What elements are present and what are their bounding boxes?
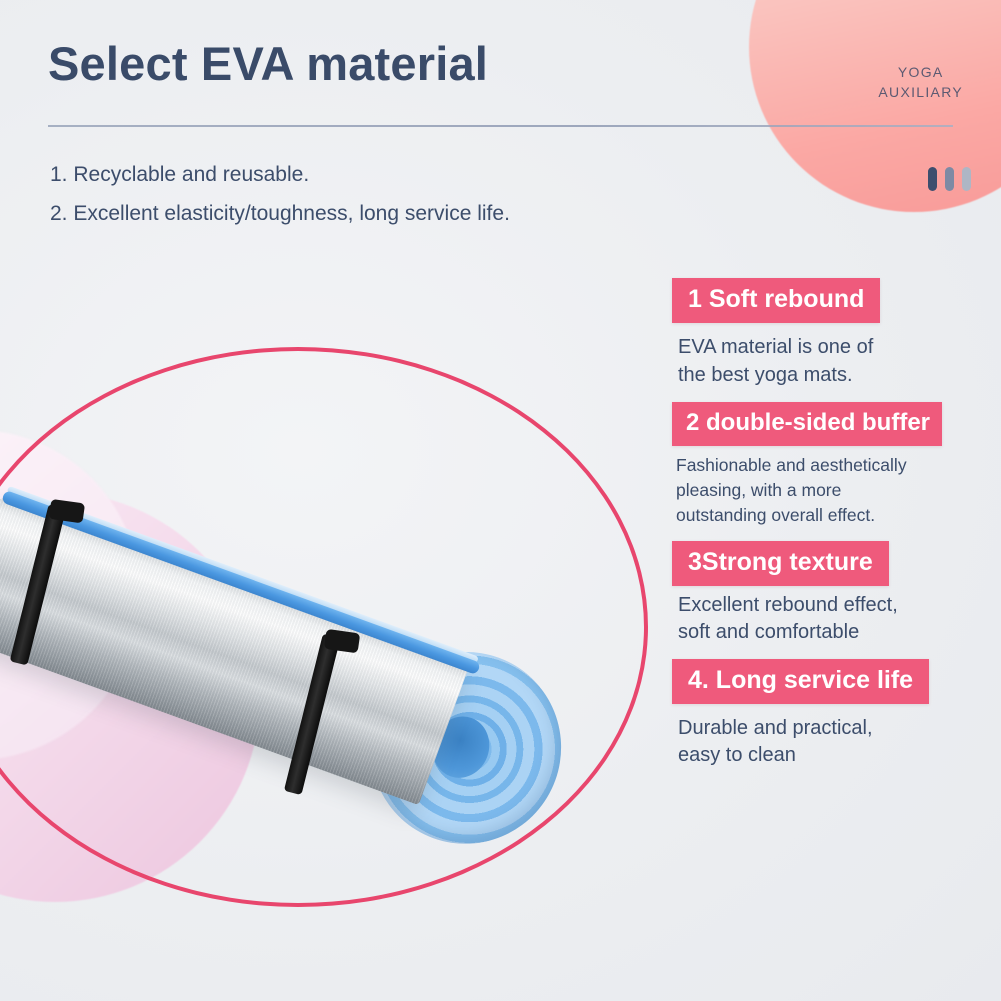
brand-bar-3	[962, 167, 971, 191]
feature-body-4-line-1: Durable and practical,	[678, 715, 1001, 742]
bullet-item-2: 2. Excellent elasticity/toughness, long …	[50, 194, 510, 233]
brand-bar-1	[928, 167, 937, 191]
bullet-item-1: 1. Recyclable and reusable.	[50, 155, 510, 194]
feature-body-3-line-1: Excellent rebound effect,	[678, 592, 1001, 619]
feature-item-3: 3Strong texture Excellent rebound effect…	[672, 541, 1001, 646]
page-title: Select EVA material	[48, 36, 488, 91]
feature-body-2: Fashionable and aesthetically pleasing, …	[672, 453, 1001, 528]
feature-item-4: 4. Long service life Durable and practic…	[672, 659, 1001, 769]
feature-badge-4: 4. Long service life	[672, 659, 929, 704]
feature-body-3: Excellent rebound effect, soft and comfo…	[672, 592, 1001, 646]
feature-list: 1 Soft rebound EVA material is one of th…	[672, 278, 1001, 782]
infographic-page: Select EVA material 1. Recyclable and re…	[0, 0, 1001, 1001]
feature-badge-2: 2 double-sided buffer	[672, 402, 942, 446]
feature-body-4-line-2: easy to clean	[678, 742, 1001, 769]
header-bullet-list: 1. Recyclable and reusable. 2. Excellent…	[50, 155, 510, 233]
header-divider	[48, 125, 953, 127]
feature-body-2-line-2: pleasing, with a more	[676, 478, 1001, 503]
brand-line-1: YOGA	[878, 62, 963, 82]
brand-line-2: AUXILIARY	[878, 82, 963, 102]
brand-bar-2	[945, 167, 954, 191]
feature-body-1: EVA material is one of the best yoga mat…	[672, 333, 1001, 389]
feature-item-1: 1 Soft rebound EVA material is one of th…	[672, 278, 1001, 389]
brand-bars	[928, 167, 971, 191]
feature-body-2-line-1: Fashionable and aesthetically	[676, 453, 1001, 478]
brand-mark: YOGA AUXILIARY	[878, 62, 963, 102]
feature-body-1-line-2: the best yoga mats.	[678, 361, 1001, 389]
feature-body-3-line-2: soft and comfortable	[678, 619, 1001, 646]
feature-badge-1: 1 Soft rebound	[672, 278, 880, 323]
feature-body-1-line-1: EVA material is one of	[678, 333, 1001, 361]
feature-body-4: Durable and practical, easy to clean	[672, 715, 1001, 769]
feature-badge-3: 3Strong texture	[672, 541, 889, 586]
feature-body-2-line-3: outstanding overall effect.	[676, 503, 1001, 528]
feature-item-2: 2 double-sided buffer Fashionable and ae…	[672, 402, 1001, 528]
